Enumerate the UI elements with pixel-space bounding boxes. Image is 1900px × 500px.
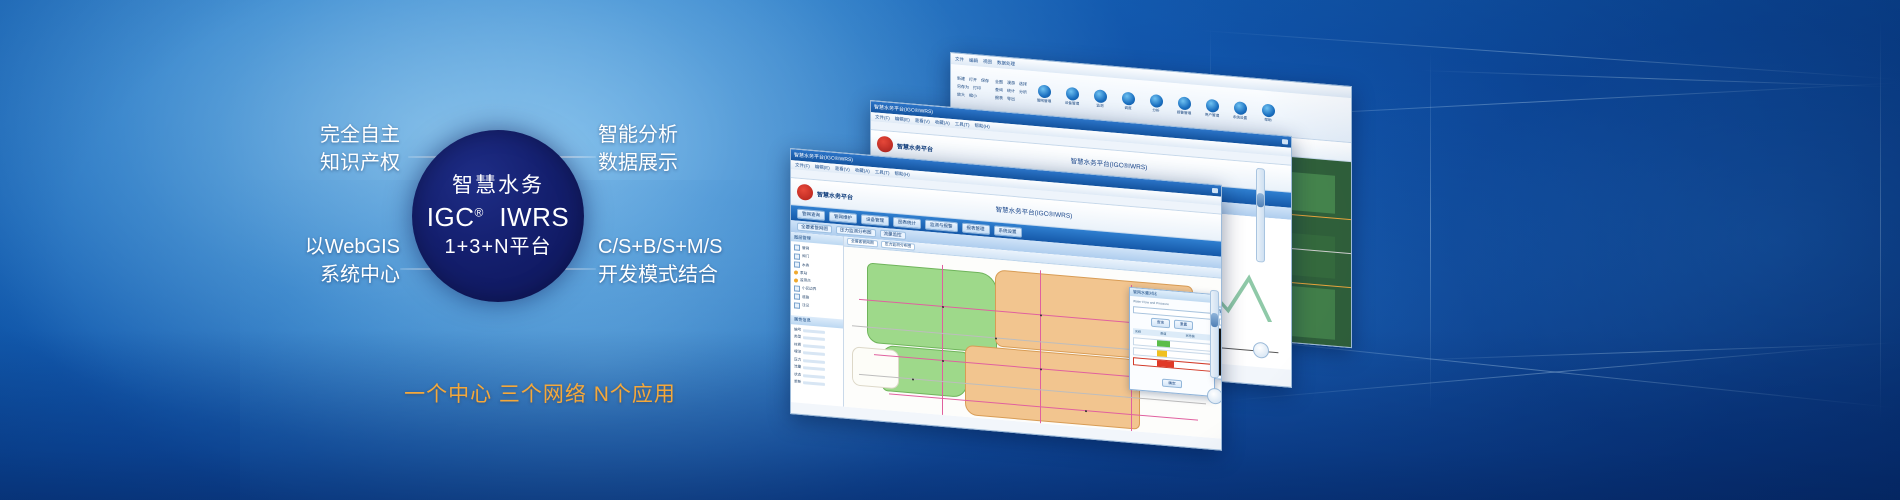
window-middle-title: 智慧水务平台(IGC®IWRS) <box>1071 155 1148 172</box>
app-window-front[interactable]: 智慧水务平台(IGC®IWRS) 文件(F) 编辑(E) 查看(V) 收藏(A)… <box>790 148 1222 451</box>
checkbox-icon[interactable] <box>794 244 800 251</box>
query-button[interactable]: 查询 <box>1151 318 1170 329</box>
nav-item[interactable]: 系统设置 <box>994 225 1022 237</box>
browser-menu-help[interactable]: 帮助(H) <box>975 122 990 129</box>
layer-label: 水表 <box>802 263 809 269</box>
window-front-brand: 智慧水务平台 <box>817 189 853 201</box>
feature-top-left-line2: 知识产权 <box>300 150 400 178</box>
prop-key: 压力 <box>794 357 801 363</box>
ribbon-button-label: 帮助 <box>1264 117 1271 123</box>
ribbon-button-4[interactable]: 分析 <box>1145 93 1167 114</box>
pie-chart-widget: 一区供水 二区供水 三区供水 四区供水 五区供水 供水总量 352.79 <box>1219 328 1221 382</box>
ribbon-row: 新建 打开 保存 <box>957 76 989 85</box>
map-polygon-white <box>852 346 899 389</box>
globe-icon <box>1206 98 1219 112</box>
prop-key: 更新 <box>794 379 801 385</box>
layer-label: 阀门 <box>802 254 809 260</box>
prop-key: 流量 <box>794 364 801 370</box>
ribbon-group-1: 全图 漫游 选择 查询 统计 分析 报表 导出 <box>995 79 1027 104</box>
ribbon-button-2[interactable]: 监测 <box>1089 88 1111 109</box>
feature-bottom-right-line2: 开发模式结合 <box>598 262 778 290</box>
point-symbol-icon <box>794 270 798 274</box>
ribbon-item[interactable]: 保存 <box>981 78 989 85</box>
ribbon-item[interactable]: 打印 <box>973 85 981 92</box>
ribbon-item[interactable]: 导出 <box>1007 96 1015 103</box>
globe-icon <box>1262 103 1275 117</box>
subnav-item[interactable]: 全要素管网图 <box>797 223 832 234</box>
hub-platform: 1+3+N平台 <box>444 236 551 258</box>
browser-menu-tools[interactable]: 工具(T) <box>955 121 970 128</box>
table-header-cell: 名称 <box>1135 329 1158 335</box>
layer-label: 小区边界 <box>802 286 816 292</box>
layer-label: 注记 <box>802 303 809 309</box>
point-symbol-icon <box>794 278 798 282</box>
checkbox-icon[interactable] <box>794 293 800 300</box>
layer-label: 泵站 <box>800 270 807 276</box>
checkbox-icon[interactable] <box>794 285 800 292</box>
feature-top-left-line1: 完全自主 <box>300 122 400 150</box>
hub-product-2: IWRS <box>499 202 569 232</box>
browser-menu-file[interactable]: 文件(F) <box>795 162 810 169</box>
concept-diagram: 智慧水务 IGC® IWRS 1+3+N平台 完全自主 知识产权 以WebGIS… <box>0 0 820 440</box>
checkbox-icon[interactable] <box>794 261 800 268</box>
feature-top-left: 完全自主 知识产权 <box>300 122 400 177</box>
ribbon-button-3[interactable]: 调度 <box>1117 91 1139 112</box>
scrollbar-knob[interactable] <box>1257 193 1264 208</box>
ribbon-button-1[interactable]: 设备管理 <box>1061 86 1083 107</box>
prop-row: 更新 <box>794 379 840 388</box>
window-back-menu-2[interactable]: 视图 <box>983 58 992 65</box>
ribbon-item[interactable]: 报表 <box>995 95 1003 102</box>
map-tab-0[interactable]: 全要素管网图 <box>847 238 878 248</box>
browser-menu-file[interactable]: 文件(F) <box>875 114 890 121</box>
ribbon-button-0[interactable]: 管网管理 <box>1033 84 1055 105</box>
nav-item[interactable]: 监测与报警 <box>925 219 958 232</box>
prop-key: 类型 <box>794 334 801 340</box>
window-middle-brand: 智慧水务平台 <box>897 141 933 153</box>
middle-vertical-scrollbar[interactable] <box>1256 168 1265 263</box>
checkbox-icon[interactable] <box>794 302 800 309</box>
ribbon-button-6[interactable]: 用户管理 <box>1201 98 1223 119</box>
prop-value-bar <box>803 336 825 341</box>
browser-menu-favorites[interactable]: 收藏(A) <box>935 119 950 126</box>
background-glow-right <box>1320 0 1900 500</box>
prop-value-bar <box>803 381 825 386</box>
hub-product: IGC <box>427 202 475 232</box>
ribbon-item[interactable]: 漫游 <box>1007 80 1015 87</box>
layers-panel[interactable]: 图层管理 管网 阀门 水表 泵站 监测点 小区边界 道路 注记 属性信息 编号 <box>791 232 844 407</box>
prop-key: 埋深 <box>794 349 801 355</box>
prop-value-bar <box>803 366 825 371</box>
table-header-cell: 状态值 <box>1186 334 1209 340</box>
ribbon-item[interactable]: 打开 <box>969 77 977 84</box>
ribbon-button-label: 调度 <box>1124 105 1131 111</box>
ribbon-item[interactable]: 新建 <box>957 76 965 83</box>
ribbon-button-label: 设备管理 <box>1065 100 1079 106</box>
ribbon-row: 另存为 打印 <box>957 84 989 93</box>
window-controls-icon[interactable] <box>1212 188 1218 194</box>
screenshot-stack: 文件 编辑 视图 数据处理 新建 打开 保存 另存为 打印 <box>790 52 1350 372</box>
feature-bottom-left-line1: 以WebGIS <box>288 234 400 262</box>
layer-tree[interactable]: 管网 阀门 水表 泵站 监测点 小区边界 道路 注记 <box>791 241 843 315</box>
nav-item[interactable]: 设备管理 <box>861 214 889 226</box>
prop-key: 编号 <box>794 327 801 333</box>
window-back-menu-1[interactable]: 编辑 <box>969 57 978 64</box>
map-pan-pad-icon[interactable] <box>1253 342 1269 359</box>
window-front-body: 图层管理 管网 阀门 水表 泵站 监测点 小区边界 道路 注记 属性信息 编号 <box>791 232 1221 439</box>
window-front-title: 智慧水务平台(IGC®IWRS) <box>996 203 1073 220</box>
ribbon-button-7[interactable]: 系统设置 <box>1229 100 1251 121</box>
table-header-cell: 数值 <box>1160 331 1183 337</box>
confirm-button[interactable]: 确定 <box>1162 379 1181 389</box>
layer-label: 道路 <box>802 295 809 301</box>
prop-value-bar <box>803 351 825 356</box>
flow-bar-rows <box>1133 337 1211 372</box>
tagline: 一个中心 三个网络 N个应用 <box>330 378 750 408</box>
browser-menu-edit[interactable]: 编辑(E) <box>815 164 830 171</box>
ribbon-item[interactable]: 分析 <box>1019 89 1027 96</box>
reset-button[interactable]: 重置 <box>1174 320 1193 331</box>
checkbox-icon[interactable] <box>794 253 800 260</box>
nav-item[interactable]: 管网查询 <box>797 208 825 220</box>
ribbon-row: 放大 缩小 <box>957 92 989 101</box>
hub-title: 智慧水务 <box>452 174 544 197</box>
ribbon-button-label: 用户管理 <box>1205 112 1219 118</box>
globe-icon <box>1150 93 1163 107</box>
ribbon-button-label: 分析 <box>1152 108 1159 114</box>
ribbon-button-label: 系统设置 <box>1233 115 1247 121</box>
globe-icon <box>1094 89 1107 103</box>
hub-circle: 智慧水务 IGC® IWRS 1+3+N平台 <box>412 130 584 302</box>
map-canvas[interactable]: 管网水量对比 Water Flow and Pressure 查询 重置 名称 <box>844 247 1221 439</box>
company-logo-icon <box>877 136 893 153</box>
feature-bottom-right-line1: C/S+B/S+M/S <box>598 234 778 262</box>
globe-icon <box>1178 96 1191 110</box>
ribbon-item[interactable]: 另存为 <box>957 84 969 91</box>
window-controls-icon[interactable] <box>1282 139 1288 145</box>
hub-product-line: IGC® IWRS <box>427 203 569 232</box>
layer-label: 管网 <box>802 246 809 252</box>
globe-icon <box>1234 101 1247 115</box>
feature-bottom-left: 以WebGIS 系统中心 <box>288 234 400 289</box>
ribbon-item[interactable]: 统计 <box>1007 88 1015 95</box>
banner-root: 智慧水务 IGC® IWRS 1+3+N平台 完全自主 知识产权 以WebGIS… <box>0 0 1900 500</box>
feature-bottom-right: C/S+B/S+M/S 开发模式结合 <box>598 234 778 289</box>
window-back-menu-3[interactable]: 数据处理 <box>997 59 1015 67</box>
ribbon-button-label: 报警管理 <box>1177 110 1191 116</box>
map-polygon-green-1 <box>867 262 997 353</box>
scrollbar-knob[interactable] <box>1211 313 1218 328</box>
ribbon-item[interactable]: 全图 <box>995 79 1003 86</box>
ribbon-group-0: 新建 打开 保存 另存为 打印 放大 缩小 <box>957 76 989 101</box>
nav-item[interactable]: 图表统计 <box>893 216 921 228</box>
feature-top-right: 智能分析 数据展示 <box>598 122 768 177</box>
ribbon-item[interactable]: 选择 <box>1019 81 1027 88</box>
prop-value-bar <box>803 374 825 379</box>
ribbon-row: 报表 导出 <box>995 95 1027 104</box>
map-polygon-orange-2 <box>965 345 1140 430</box>
browser-menu-tools[interactable]: 工具(T) <box>875 169 890 176</box>
prop-value-bar <box>803 344 825 349</box>
window-back-menu-0[interactable]: 文件 <box>955 56 964 63</box>
ribbon-button-label: 监测 <box>1096 103 1103 109</box>
browser-menu-help[interactable]: 帮助(H) <box>895 170 910 177</box>
gis-map-area[interactable]: 全要素管网图 压力监测分布图 <box>844 237 1221 439</box>
globe-icon <box>1066 86 1079 100</box>
ribbon-item[interactable]: 放大 <box>957 92 965 99</box>
layer-item[interactable]: 注记 <box>794 302 840 312</box>
subnav-item[interactable]: 流量监控 <box>880 230 906 240</box>
browser-menu-view[interactable]: 查看(V) <box>835 165 850 172</box>
flow-compare-dialog[interactable]: 管网水量对比 Water Flow and Pressure 查询 重置 名称 <box>1129 287 1215 397</box>
feature-top-right-line2: 数据展示 <box>598 150 768 178</box>
ribbon-button-8[interactable]: 帮助 <box>1257 103 1279 124</box>
nav-item[interactable]: 报表管理 <box>962 222 990 234</box>
browser-menu-favorites[interactable]: 收藏(A) <box>855 167 870 174</box>
map-vertical-scrollbar[interactable] <box>1210 290 1219 379</box>
feature-top-right-line1: 智能分析 <box>598 122 768 150</box>
prop-key: 状态 <box>794 372 801 378</box>
ribbon-item[interactable]: 查询 <box>995 87 1003 94</box>
globe-icon <box>1038 84 1051 98</box>
browser-menu-view[interactable]: 查看(V) <box>915 117 930 124</box>
flow-dialog-body: Water Flow and Pressure 查询 重置 名称 数值 状态值 <box>1130 296 1214 396</box>
prop-value-bar <box>803 329 825 334</box>
prop-key: 材质 <box>794 342 801 348</box>
ribbon-item[interactable]: 缩小 <box>969 93 977 100</box>
browser-menu-edit[interactable]: 编辑(E) <box>895 116 910 123</box>
feature-bottom-left-line2: 系统中心 <box>288 262 400 290</box>
ribbon-button-label: 管网管理 <box>1037 98 1051 104</box>
globe-icon <box>1122 91 1135 105</box>
ribbon-button-5[interactable]: 报警管理 <box>1173 95 1195 116</box>
props-list: 编号 类型 材质 埋深 压力 流量 状态 更新 <box>791 324 843 392</box>
layer-label: 监测点 <box>800 278 811 284</box>
prop-value-bar <box>803 359 825 364</box>
nav-item[interactable]: 管网维护 <box>829 211 857 223</box>
company-logo-icon <box>797 184 813 201</box>
registered-mark-icon: ® <box>475 206 484 220</box>
